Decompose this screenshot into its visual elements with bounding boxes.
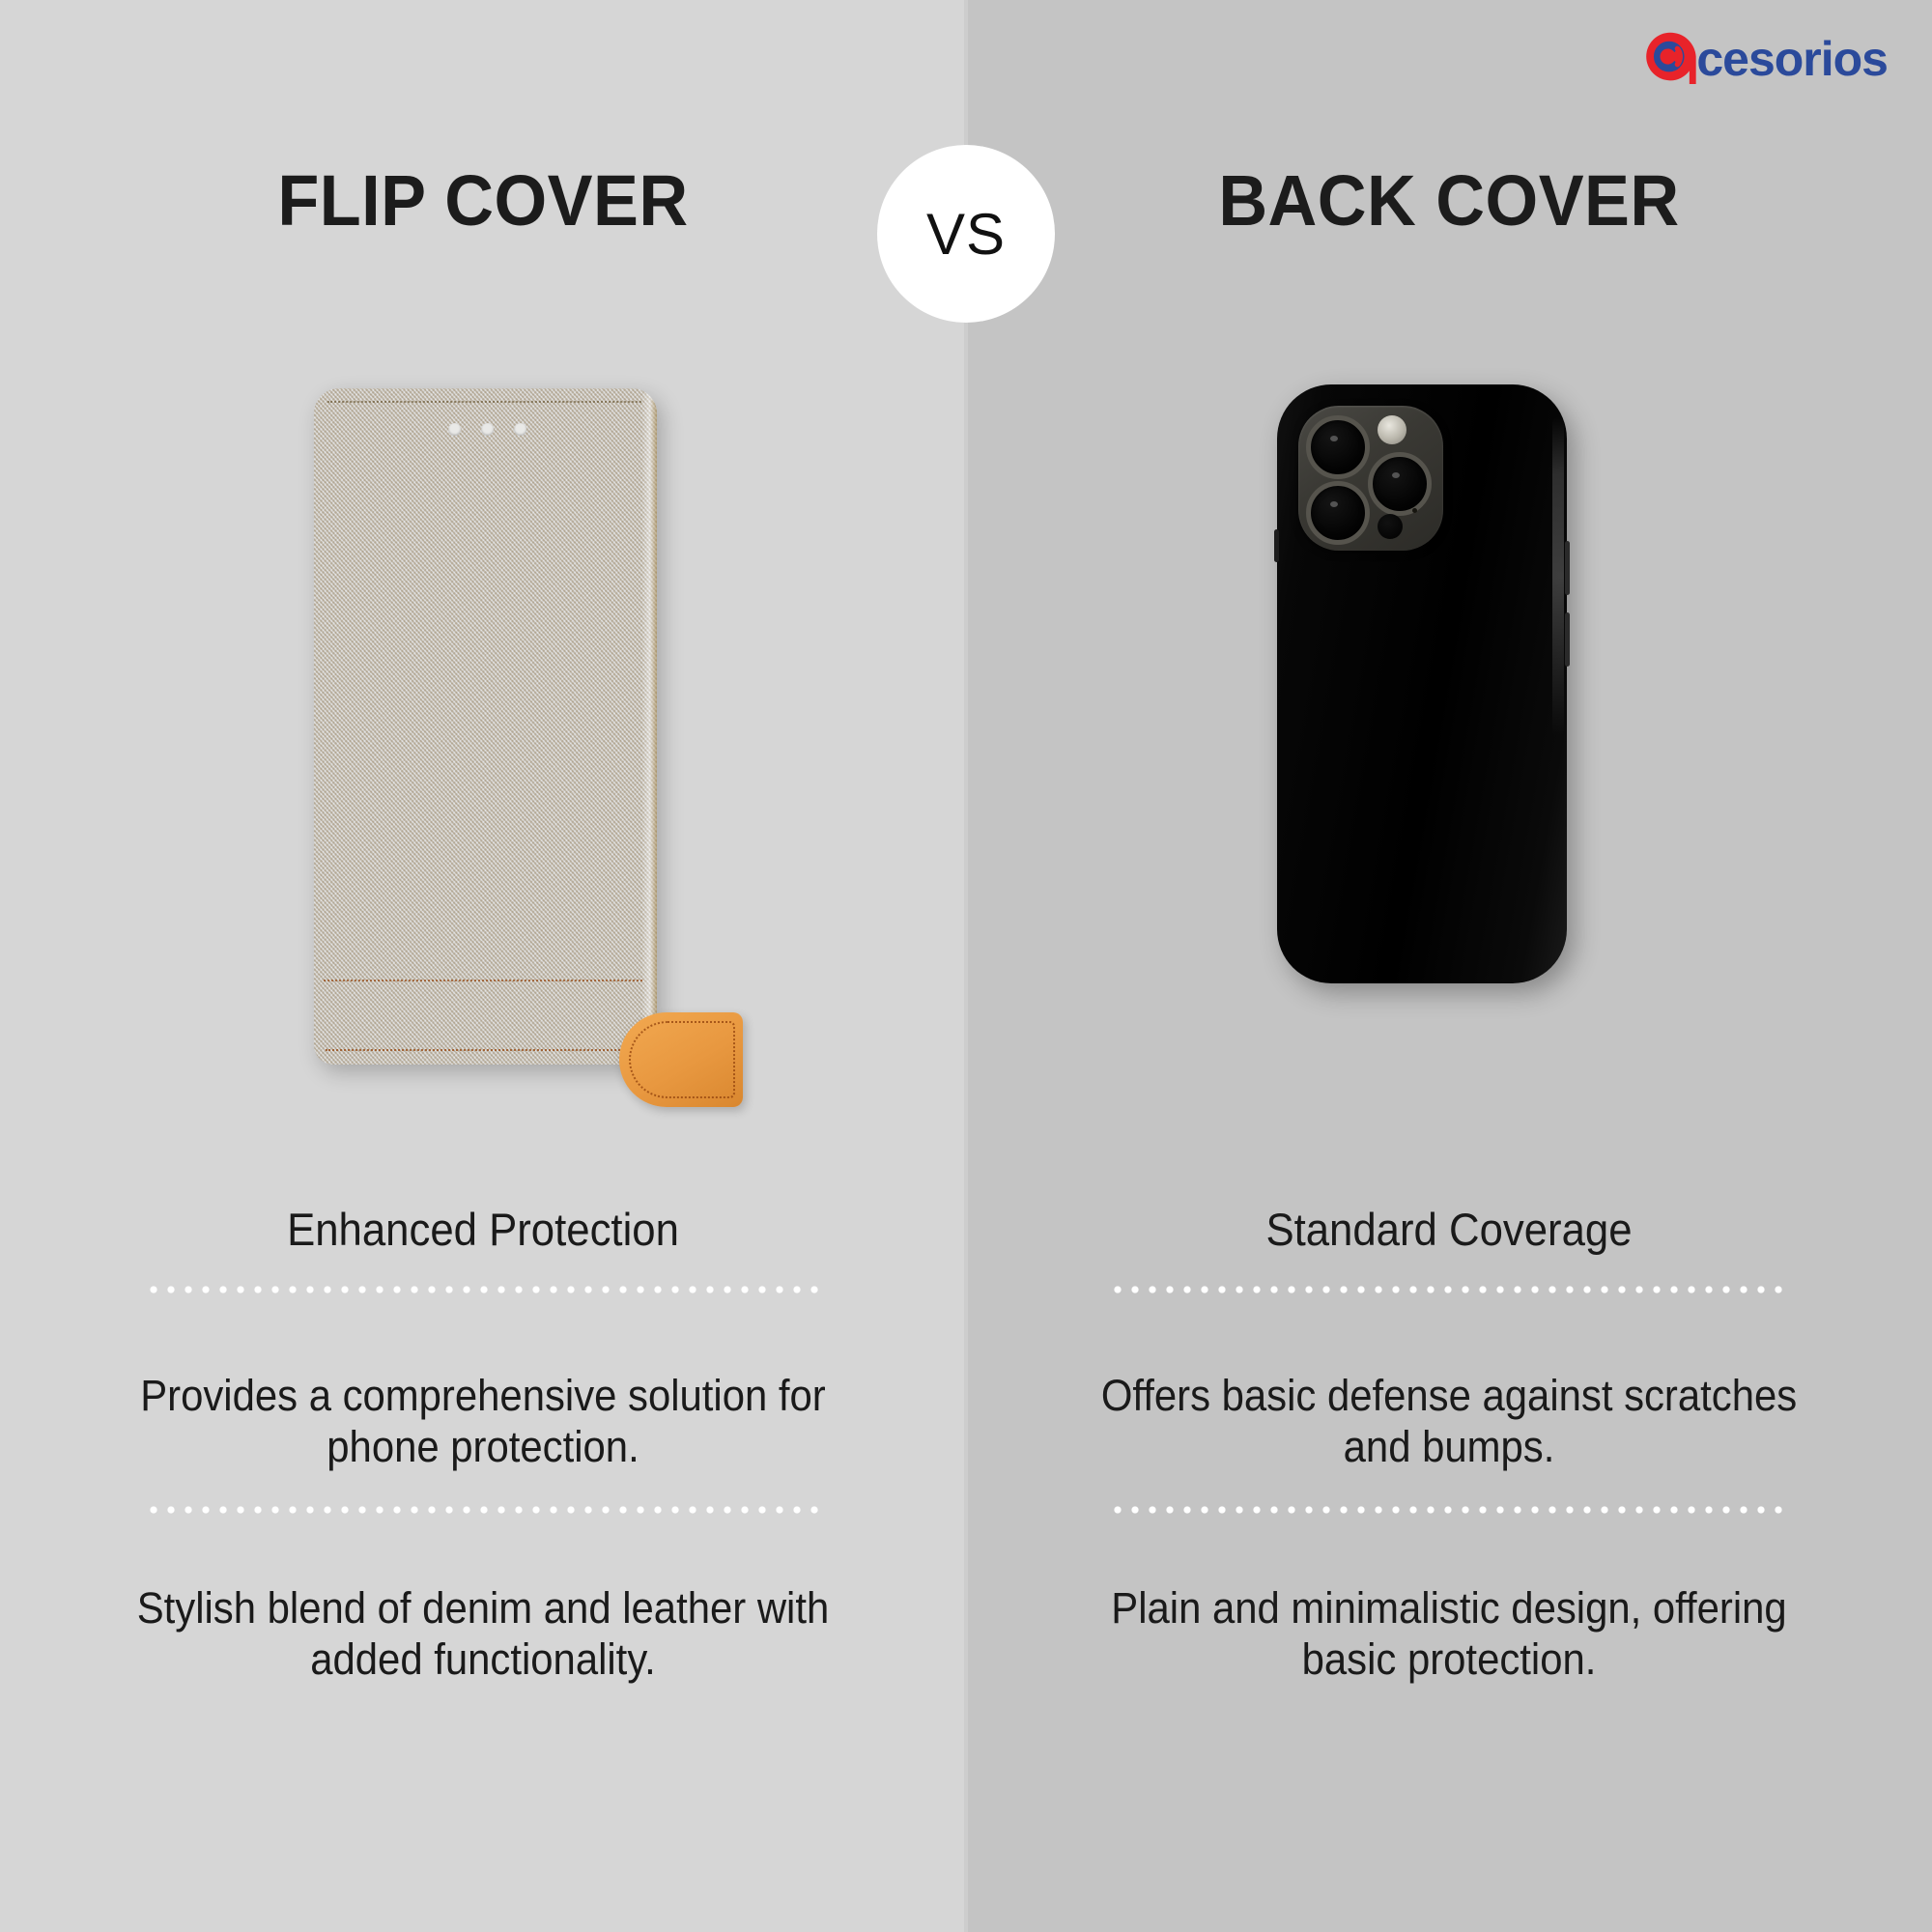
leather-bottom-stitching xyxy=(326,1049,643,1051)
left-divider-2 xyxy=(145,1505,827,1515)
camera-flash-icon xyxy=(1378,415,1406,444)
volume-up-button-cutout xyxy=(1565,541,1570,595)
volume-down-button-cutout xyxy=(1565,612,1570,667)
left-divider-1 xyxy=(145,1285,827,1294)
right-caption: Standard Coverage xyxy=(1000,1203,1898,1256)
microphone-dot-icon xyxy=(1412,508,1417,513)
comparison-infographic: cesorios FLIP COVER BACK COVER VS xyxy=(0,0,1932,1932)
magnetic-closure-tab xyxy=(619,1012,743,1107)
case-gloss-highlight xyxy=(1552,417,1564,736)
left-product-stage xyxy=(0,377,966,1092)
back-cover-product-image xyxy=(1277,384,1567,983)
right-heading: BACK COVER xyxy=(990,159,1908,241)
vs-badge-label: VS xyxy=(926,201,1006,268)
camera-cutout-dots xyxy=(448,423,526,436)
brand-wordmark: cesorios xyxy=(1696,35,1888,83)
right-product-stage xyxy=(966,377,1932,1092)
leather-diagonal-stitching xyxy=(324,980,642,981)
camera-module xyxy=(1298,406,1443,551)
left-caption: Enhanced Protection xyxy=(34,1203,932,1256)
brand-logo: cesorios xyxy=(1640,25,1888,93)
cutout-dot xyxy=(448,423,461,436)
top-stitching xyxy=(327,401,641,403)
vs-badge: VS xyxy=(877,145,1055,323)
right-divider-1 xyxy=(1109,1285,1791,1294)
camera-lens-icon xyxy=(1306,481,1370,545)
flip-cover-product-image xyxy=(314,388,657,1065)
right-feature-1: Offers basic defense against scratches a… xyxy=(1071,1370,1826,1472)
tab-stitching xyxy=(629,1021,735,1098)
cutout-dot xyxy=(481,423,494,436)
action-button-cutout xyxy=(1274,529,1279,562)
cutout-dot xyxy=(514,423,526,436)
camera-lens-icon xyxy=(1306,415,1370,479)
left-feature-2: Stylish blend of denim and leather with … xyxy=(105,1582,860,1685)
lidar-sensor-icon xyxy=(1378,514,1403,539)
left-feature-1: Provides a comprehensive solution for ph… xyxy=(105,1370,860,1472)
right-feature-2: Plain and minimalistic design, offering … xyxy=(1071,1582,1826,1685)
camera-lens-icon xyxy=(1368,452,1432,516)
left-heading: FLIP COVER xyxy=(24,159,942,241)
right-divider-2 xyxy=(1109,1505,1791,1515)
acesorios-a-logo-icon xyxy=(1640,29,1700,89)
